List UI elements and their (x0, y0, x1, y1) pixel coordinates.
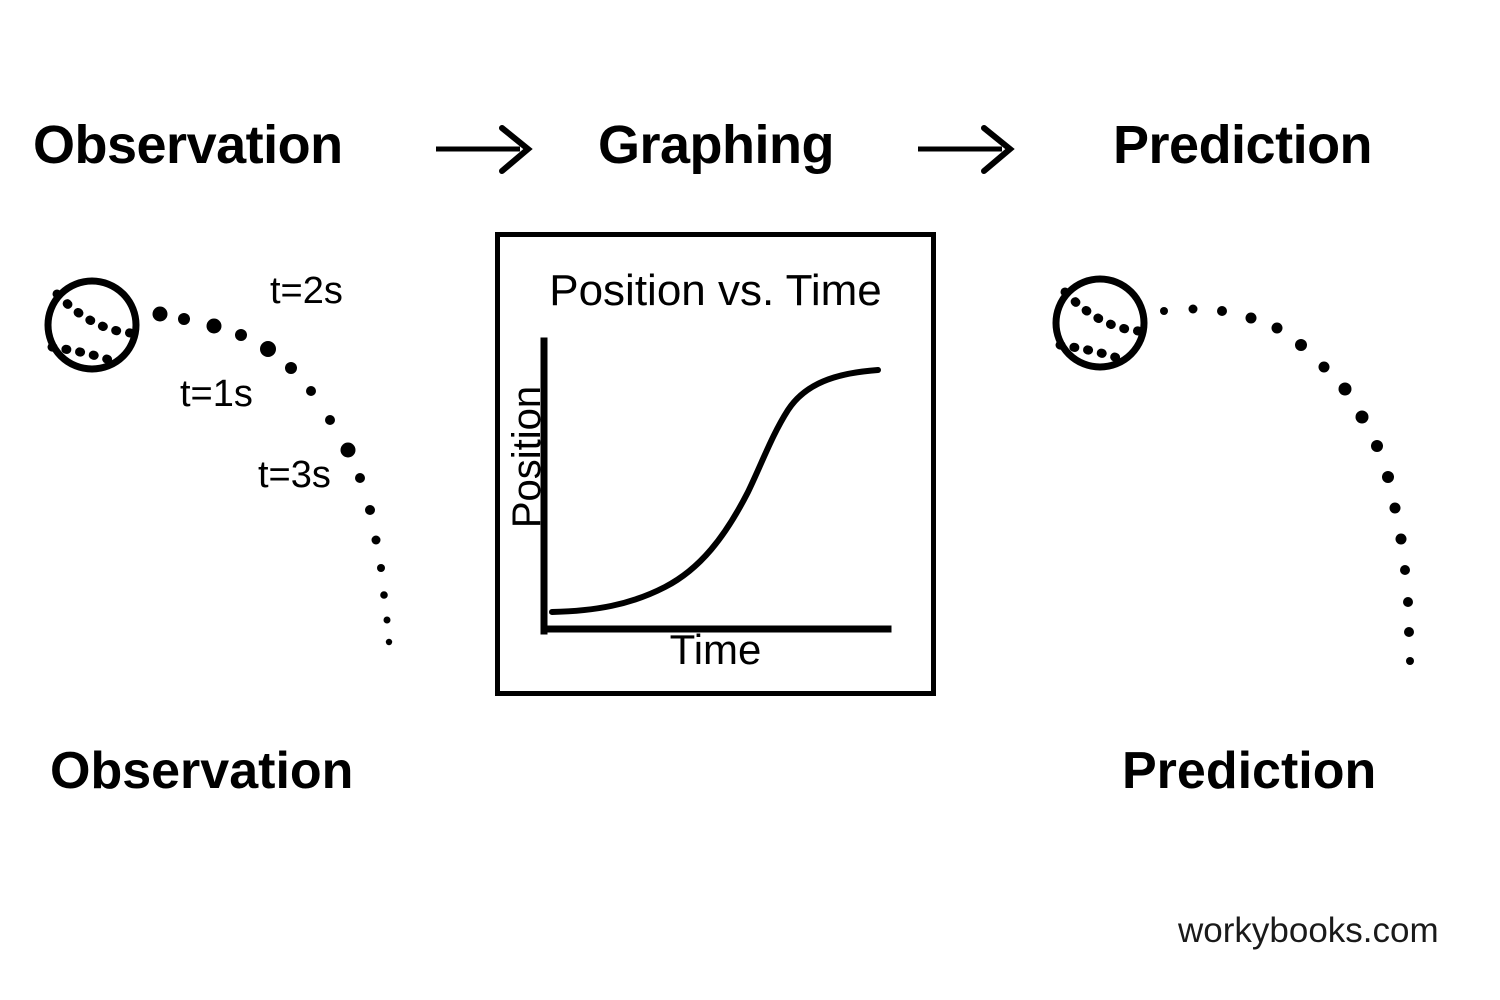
diagram-canvas: Observation Graphing Prediction (0, 0, 1500, 1000)
header-step-graphing: Graphing (598, 118, 834, 172)
caption-prediction: Prediction (1122, 745, 1376, 797)
caption-observation: Observation (50, 745, 353, 797)
position-curve (552, 370, 878, 612)
graph-panel: Position vs. Time Position Time (495, 232, 936, 696)
baseball-icon (48, 281, 136, 369)
watermark: workybooks.com (1178, 913, 1439, 948)
header-step-observation: Observation (33, 118, 343, 172)
arrow-right-icon (430, 122, 540, 177)
time-label-t3: t=3s (258, 456, 331, 494)
observation-illustration (0, 250, 470, 670)
prediction-illustration (1040, 265, 1460, 685)
header-step-prediction: Prediction (1113, 118, 1372, 172)
arrow-right-icon (912, 122, 1022, 177)
graph-plot-area (500, 237, 931, 691)
baseball-icon (1056, 279, 1144, 367)
predicted-trajectory-dots (1160, 305, 1414, 666)
time-label-t1: t=1s (180, 375, 253, 413)
time-label-t2: t=2s (270, 272, 343, 310)
